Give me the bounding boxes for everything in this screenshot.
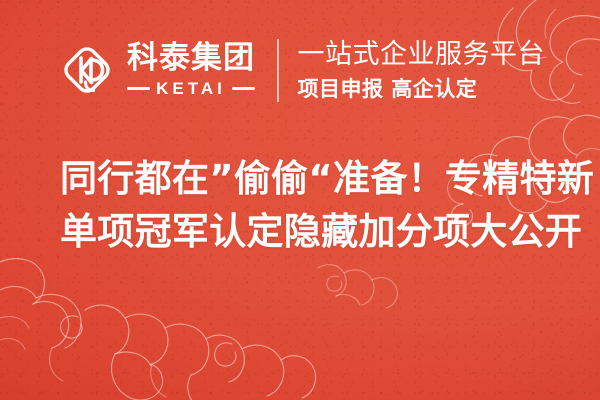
tagline-block: 一站式企业服务平台 项目申报 高企认定 (298, 40, 546, 100)
brand-name-en-row: KETAI (127, 80, 255, 97)
headline-line-2: 单项冠军认定隐藏加分项大公开 (60, 205, 560, 258)
headline-line-1: 同行都在”偷偷“准备！专精特新 (60, 152, 560, 205)
wordmark-rule-right (232, 87, 255, 90)
brand-name-en: KETAI (156, 80, 226, 97)
promo-banner: 科泰集团 KETAI 一站式企业服务平台 项目申报 高企认定 同行都在”偷偷“准… (0, 0, 600, 400)
banner-header: 科泰集团 KETAI 一站式企业服务平台 项目申报 高企认定 (0, 0, 600, 140)
brand-wordmark: 科泰集团 KETAI (127, 43, 255, 97)
tagline-secondary: 项目申报 高企认定 (298, 77, 546, 100)
tagline-primary: 一站式企业服务平台 (298, 40, 546, 70)
vertical-divider (277, 39, 279, 102)
ketai-diamond-monogram-logo-icon (58, 41, 116, 99)
wordmark-rule-left (127, 87, 150, 90)
brand-name-cn: 科泰集团 (127, 43, 255, 74)
headline-block: 同行都在”偷偷“准备！专精特新 单项冠军认定隐藏加分项大公开 (60, 152, 560, 258)
brand-lockup[interactable]: 科泰集团 KETAI (58, 41, 255, 99)
